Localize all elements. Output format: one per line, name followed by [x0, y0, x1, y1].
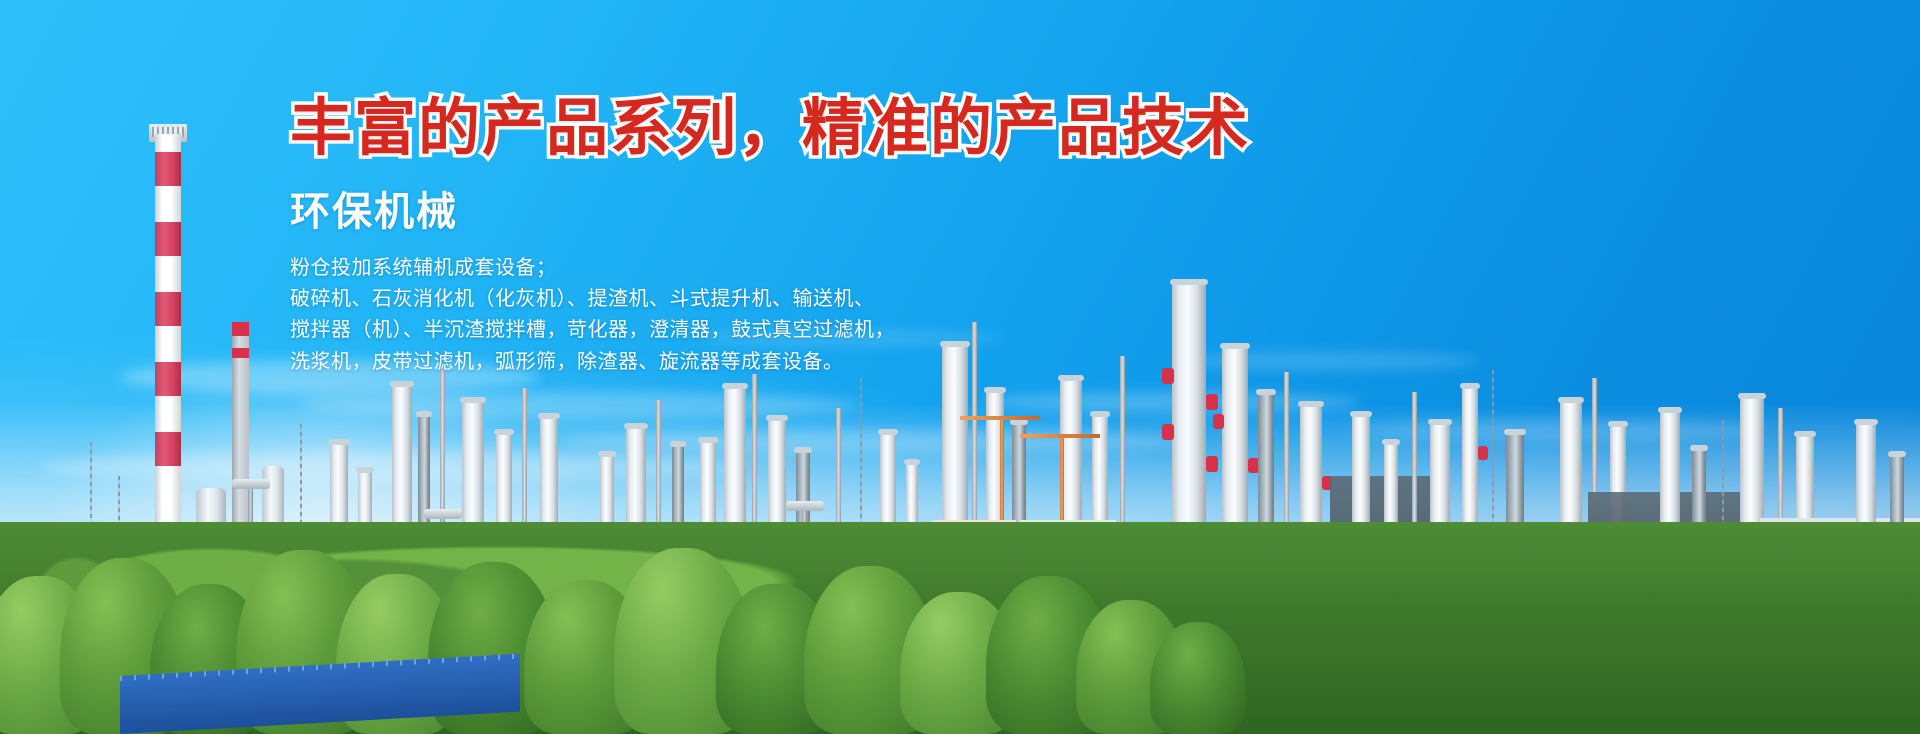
striped-chimney [155, 134, 181, 584]
description-line: 搅拌器（机）、半沉渣搅拌槽，苛化器，澄清器，鼓式真空过滤机， [290, 315, 1340, 346]
tree [1150, 622, 1246, 734]
description-line: 粉仓投加系统辅机成套设备； [290, 253, 1340, 284]
product-description: 粉仓投加系统辅机成套设备； 破碎机、石灰消化机（化灰机）、提渣机、斗式提升机、输… [290, 253, 1340, 378]
page-subtitle: 环保机械 [290, 179, 1340, 237]
page-title: 丰富的产品系列，精准的产品技术 [290, 96, 1340, 161]
hero-banner: 爱护职工生命 争当职工人身安全卫士 爱护职工生命 争取职工人身安全 丰富的产品系… [0, 0, 1920, 734]
description-line: 洗浆机，皮带过滤机，弧形筛，除渣器、旋流器等成套设备。 [290, 347, 1340, 378]
hero-copy: 丰富的产品系列，精准的产品技术 环保机械 粉仓投加系统辅机成套设备； 破碎机、石… [290, 96, 1340, 378]
description-line: 破碎机、石灰消化机（化灰机）、提渣机、斗式提升机、输送机、 [290, 284, 1340, 315]
